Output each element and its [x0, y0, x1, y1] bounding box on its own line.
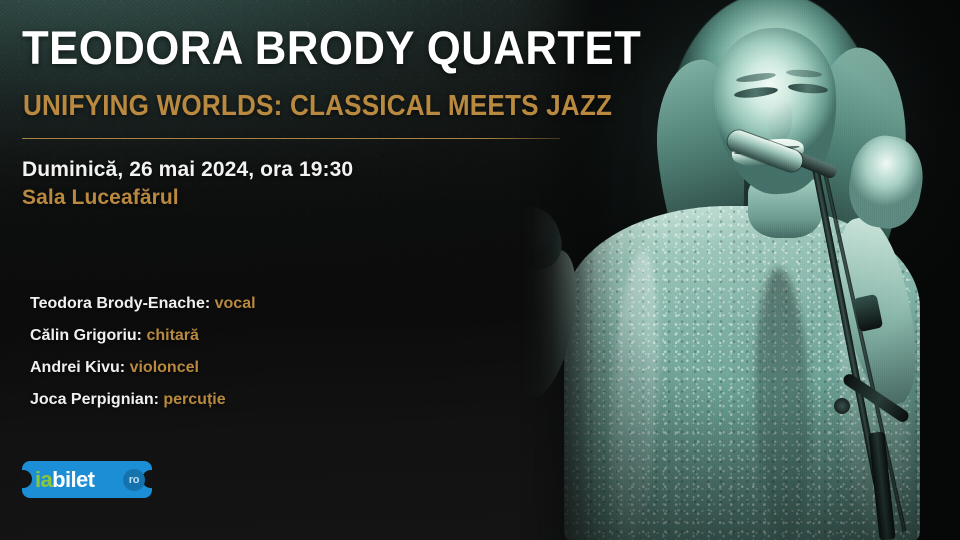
event-date: Duminică, 26 mai 2024, ora 19:30	[22, 158, 353, 182]
logo-tld-badge: ro	[123, 469, 145, 491]
performer-instrument: chitară	[146, 327, 198, 344]
logo-wordmark: iabilet	[35, 468, 94, 491]
event-poster: TEODORA BRODY QUARTET UNIFYING WORLDS: C…	[0, 0, 960, 540]
event-title: TEODORA BRODY QUARTET	[22, 24, 641, 71]
performer-instrument: vocal	[215, 295, 256, 312]
performer-instrument: percuție	[163, 391, 225, 408]
gold-divider	[22, 138, 560, 139]
lineup-list: Teodora Brody-Enache: vocal Călin Grigor…	[30, 296, 256, 424]
performer-name: Joca Perpignian:	[30, 391, 159, 408]
lineup-item: Joca Perpignian: percuție	[30, 392, 256, 408]
performer-instrument: violoncel	[130, 359, 199, 376]
logo-wordmark-bilet: bilet	[52, 467, 94, 492]
performer-name: Teodora Brody-Enache:	[30, 295, 210, 312]
lineup-item: Călin Grigoriu: chitară	[30, 328, 256, 344]
lineup-item: Teodora Brody-Enache: vocal	[30, 296, 256, 312]
event-subtitle: UNIFYING WORLDS: CLASSICAL MEETS JAZZ	[23, 92, 612, 121]
iabilet-logo[interactable]: iabilet ro	[22, 461, 152, 498]
performer-name: Călin Grigoriu:	[30, 327, 142, 344]
event-venue: Sala Luceafărul	[22, 186, 179, 210]
lineup-item: Andrei Kivu: violoncel	[30, 360, 256, 376]
logo-wordmark-ia: ia	[35, 467, 52, 492]
poster-content: TEODORA BRODY QUARTET UNIFYING WORLDS: C…	[0, 0, 960, 540]
performer-name: Andrei Kivu:	[30, 359, 125, 376]
